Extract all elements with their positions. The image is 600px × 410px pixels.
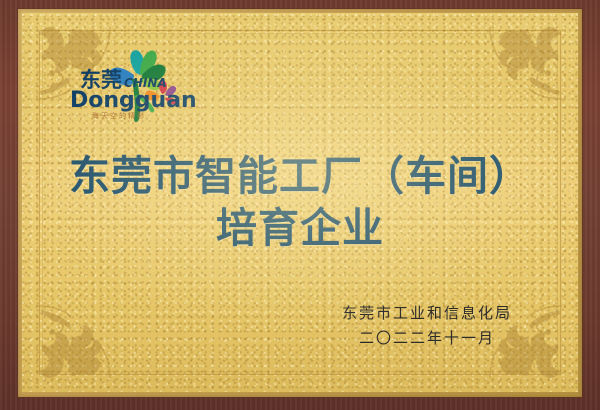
issuing-organization: 东莞市工业和信息化局 bbox=[322, 301, 532, 326]
svg-text:海天空的精彩: 海天空的精彩 bbox=[92, 111, 146, 120]
plaque-title: 东莞市智能工厂（车间） 培育企业 bbox=[22, 151, 578, 253]
svg-text:Dongguan: Dongguan bbox=[70, 88, 197, 113]
award-plaque: 东莞 CHINA Dongguan 海天空的精彩 东莞市智能工厂（车间） 培育企… bbox=[0, 0, 600, 410]
issuer-block: 东莞市工业和信息化局 二〇二二年十一月 bbox=[322, 301, 532, 351]
corner-ornament-bottom-left bbox=[32, 298, 124, 384]
title-line-2: 培育企业 bbox=[22, 203, 578, 253]
issue-date: 二〇二二年十一月 bbox=[322, 326, 532, 351]
plaque-gold-panel: 东莞 CHINA Dongguan 海天空的精彩 东莞市智能工厂（车间） 培育企… bbox=[22, 13, 578, 392]
dongguan-city-logo: 东莞 CHINA Dongguan 海天空的精彩 bbox=[62, 45, 202, 127]
corner-ornament-top-right bbox=[476, 21, 568, 107]
title-line-1: 东莞市智能工厂（车间） bbox=[22, 151, 578, 201]
